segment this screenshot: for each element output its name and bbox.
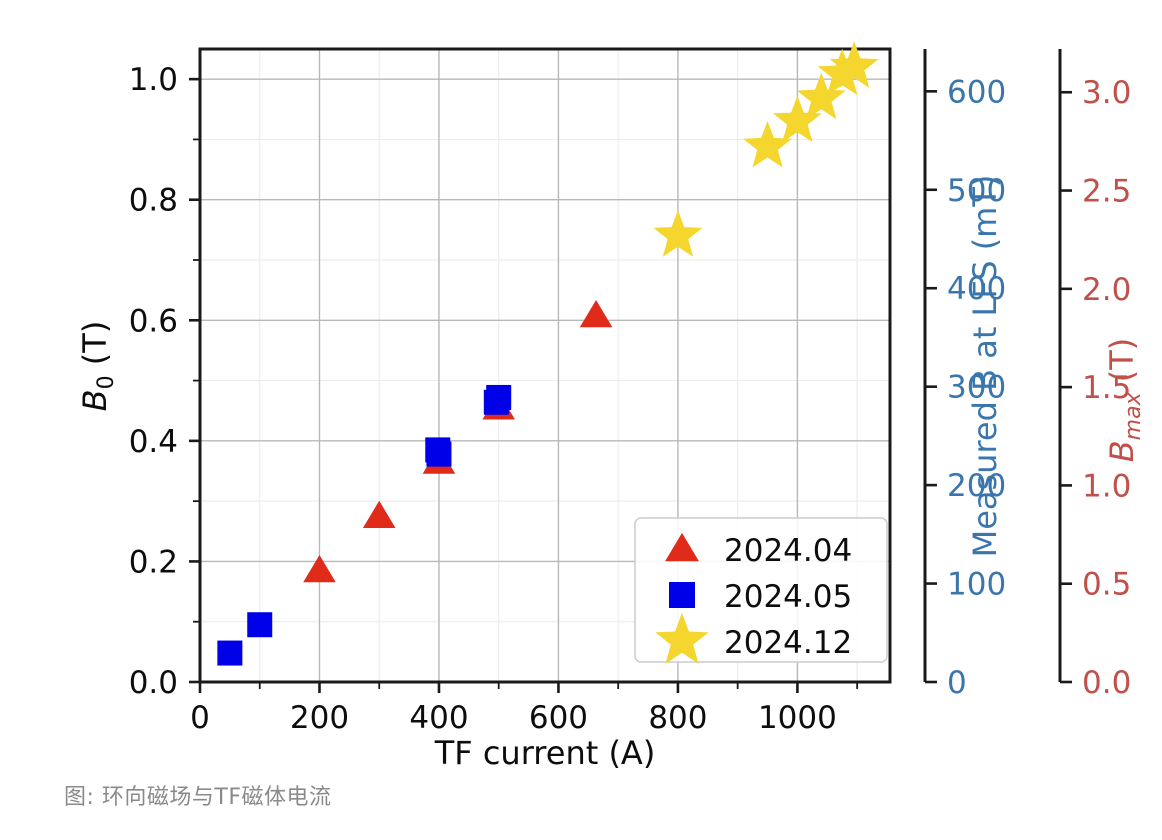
legend-marker-square [669,582,695,608]
data-point-square [217,641,242,666]
x-axis-label: TF current (A) [434,734,656,772]
y-ticklabel: 1.0 [129,62,178,98]
chart-canvas: 020040060080010000.00.20.40.60.81.001002… [0,0,1162,840]
data-point-triangle [303,555,336,582]
y-ticklabel: 0.2 [129,544,178,580]
y-ticklabel: 0.0 [129,665,178,701]
x-ticklabel: 400 [409,700,468,736]
secondary-axis-2-ticklabel: 0.5 [1082,567,1131,603]
x-ticklabel: 600 [529,700,588,736]
y-ticklabel: 0.4 [129,424,178,460]
secondary-axis-2-ticklabel: 3.0 [1082,75,1131,111]
figure-caption: 图: 环向磁场与TF磁体电流 [64,779,332,811]
legend-items[interactable]: 2024.042024.052024.12 [655,533,852,664]
y-ticklabel: 0.8 [129,183,178,219]
legend-label: 2024.04 [724,533,852,569]
secondary-axis-2-ticklabel: 2.5 [1082,174,1131,210]
secondary-axis-2-ticklabel: 0.0 [1082,665,1131,701]
data-point-star [743,121,792,168]
series-2024.05 [217,385,511,666]
data-point-triangle [363,501,396,528]
series-2024.12 [653,41,878,256]
y-ticklabel: 0.6 [129,303,178,339]
data-point-triangle [580,300,613,327]
secondary-axis-2-ticklabel: 1.0 [1082,468,1131,504]
y-axis-label: B0 (T) [76,321,119,412]
axis-ticks [189,79,1072,693]
legend[interactable]: 2024.042024.052024.12 [635,518,887,664]
data-point-square [247,612,272,637]
legend-label: 2024.12 [724,625,852,661]
data-point-square [425,437,450,462]
x-ticklabel: 800 [648,700,707,736]
legend-label: 2024.05 [724,579,852,615]
secondary-axis-1-ticklabel: 100 [947,567,1006,603]
secondary-axis-2-ticklabel: 2.0 [1082,272,1131,308]
x-ticklabel: 1000 [758,700,837,736]
secondary-axis-1-ticklabel: 600 [947,74,1006,110]
data-point-square [484,390,509,415]
figure-container: 020040060080010000.00.20.40.60.81.001002… [0,0,1162,840]
x-ticklabel: 200 [290,700,349,736]
secondary-axis-1-label: Measured B at LFS (mT) [966,175,1004,558]
x-ticklabel: 0 [190,700,210,736]
secondary-axis-1-ticklabel: 0 [947,665,967,701]
